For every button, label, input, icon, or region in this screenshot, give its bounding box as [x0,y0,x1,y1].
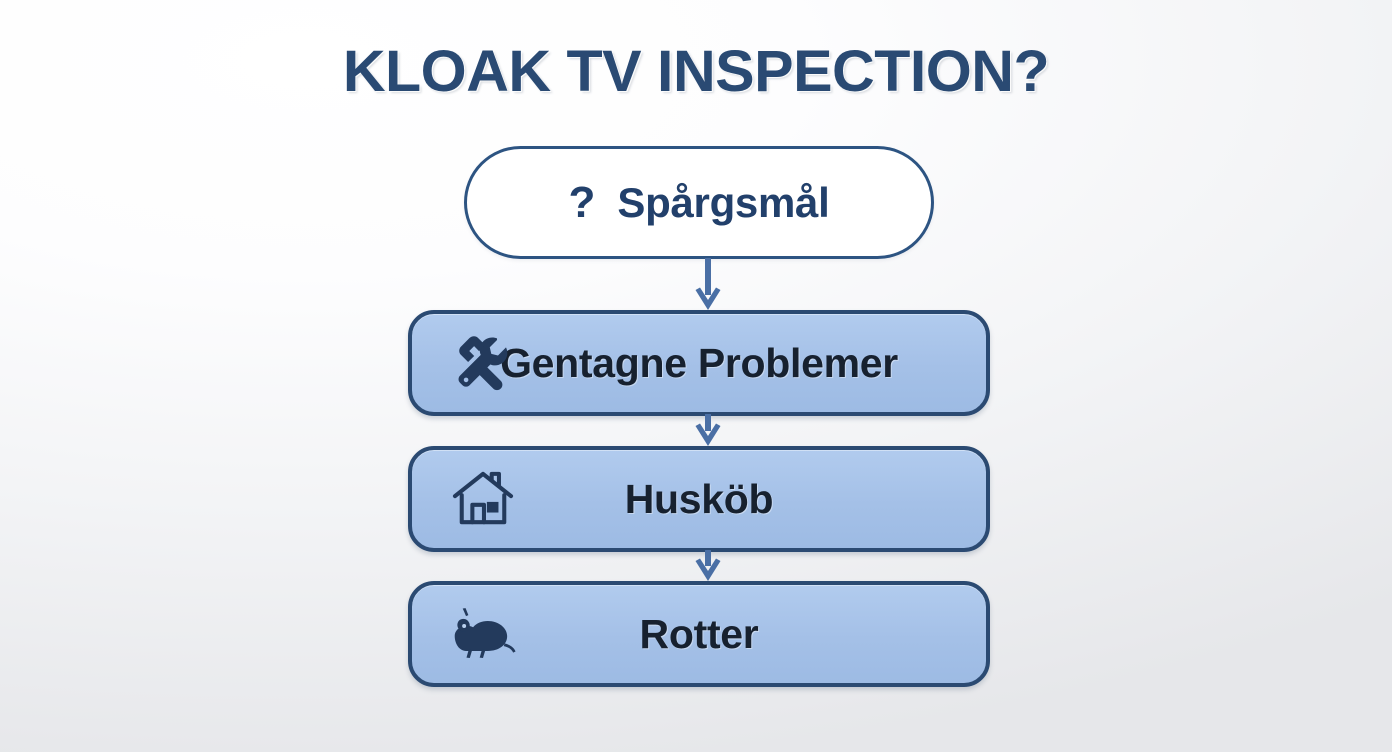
arrow-question-to-step1 [694,258,722,312]
page-title: KLOAK TV INSPECTION? [0,38,1392,105]
flow-node-question[interactable]: ? Spårgsmål [464,146,934,259]
question-mark-icon: ? [569,178,596,228]
flow-node-step-1[interactable]: Gentagne Problemer [408,310,990,416]
flow-node-step-3[interactable]: Rotter [408,581,990,687]
house-icon [450,468,516,530]
flow-node-step-2[interactable]: Husköb [408,446,990,552]
arrow-step2-to-step3 [694,550,722,583]
tools-wrench-icon [450,332,516,394]
diagram-canvas: KLOAK TV INSPECTION? ? Spårgsmål Gentagn… [0,0,1392,752]
arrow-step1-to-step2 [694,414,722,448]
rat-icon [450,603,516,665]
flow-node-question-label: Spårgsmål [617,179,829,227]
